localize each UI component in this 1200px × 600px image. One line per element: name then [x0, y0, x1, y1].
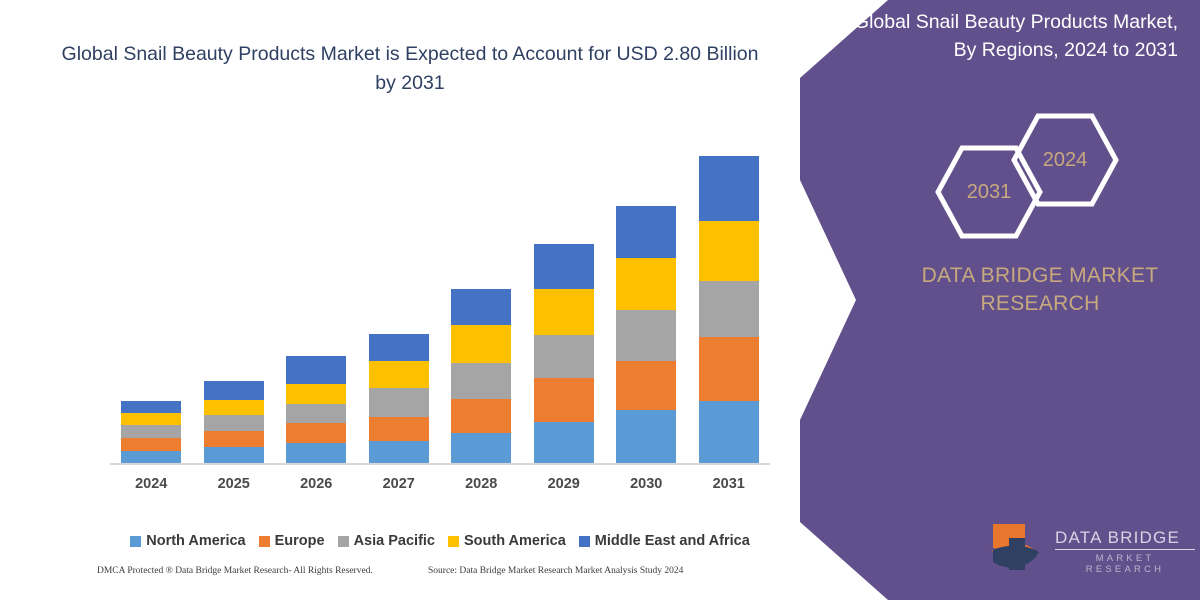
stacked-bar[interactable]: [204, 381, 264, 465]
legend-swatch-icon: [579, 536, 590, 547]
x-axis-label-2030: 2030: [606, 476, 686, 492]
brand-name-line-2: RESEARCH: [880, 290, 1200, 318]
bar-segment[interactable]: [286, 404, 346, 423]
bar-segment[interactable]: [121, 413, 181, 425]
bar-segment[interactable]: [286, 443, 346, 465]
page-title: Global Snail Beauty Products Market is E…: [60, 40, 760, 99]
legend-item[interactable]: South America: [448, 533, 566, 549]
bar-segment[interactable]: [534, 422, 594, 465]
hexagon-badge-start-year: 2031: [934, 144, 1044, 240]
legend-swatch-icon: [448, 536, 459, 547]
bar-segment[interactable]: [699, 337, 759, 401]
bar-segment[interactable]: [534, 289, 594, 335]
bar-segment[interactable]: [451, 433, 511, 465]
bar-segment[interactable]: [616, 361, 676, 410]
data-bridge-b-mark-icon: [985, 518, 1047, 576]
logo-line-2: MARKET RESEARCH: [1055, 553, 1195, 575]
hexagon-badges: 2024 2031: [930, 112, 1120, 232]
bar-segment[interactable]: [204, 381, 264, 400]
bar-segment[interactable]: [369, 334, 429, 361]
legend-label: South America: [464, 533, 566, 549]
brand-name-line-1: DATA BRIDGE MARKET: [880, 262, 1200, 290]
legend-label: Middle East and Africa: [595, 533, 750, 549]
bar-segment[interactable]: [369, 441, 429, 465]
footer-copyright: DMCA Protected ® Data Bridge Market Rese…: [97, 566, 373, 576]
bar-segment[interactable]: [699, 401, 759, 465]
bar-segment[interactable]: [616, 410, 676, 465]
bar-segment[interactable]: [534, 244, 594, 289]
bar-segment[interactable]: [616, 310, 676, 361]
bar-segment[interactable]: [699, 156, 759, 221]
chart-legend: North AmericaEuropeAsia PacificSouth Ame…: [110, 528, 770, 554]
logo-wordmark: DATA BRIDGE MARKET RESEARCH: [1055, 528, 1195, 575]
bar-segment[interactable]: [699, 281, 759, 337]
legend-swatch-icon: [259, 536, 270, 547]
footer-source: Source: Data Bridge Market Research Mark…: [428, 566, 683, 576]
legend-item[interactable]: Europe: [259, 533, 325, 549]
x-axis-label-2029: 2029: [524, 476, 604, 492]
bar-segment[interactable]: [286, 356, 346, 384]
bar-segment[interactable]: [204, 431, 264, 447]
stacked-bar[interactable]: [699, 156, 759, 465]
hexagon-start-year-label: 2031: [934, 144, 1044, 240]
company-logo: DATA BRIDGE MARKET RESEARCH: [985, 518, 1195, 580]
bar-segment[interactable]: [534, 378, 594, 422]
stacked-bar[interactable]: [616, 206, 676, 465]
x-axis-line: [110, 463, 770, 465]
x-axis-labels: 20242025202620272028202920302031: [110, 476, 770, 498]
stacked-bar[interactable]: [369, 334, 429, 465]
infographic-root: Global Snail Beauty Products Market is E…: [0, 0, 1200, 600]
bar-segment[interactable]: [451, 363, 511, 399]
legend-label: North America: [146, 533, 245, 549]
bar-segment[interactable]: [121, 401, 181, 413]
bar-segment[interactable]: [451, 399, 511, 433]
bar-segment[interactable]: [451, 289, 511, 325]
stacked-bar-chart: [110, 140, 770, 465]
x-axis-label-2031: 2031: [689, 476, 769, 492]
stacked-bar[interactable]: [286, 356, 346, 465]
bar-segment[interactable]: [121, 438, 181, 451]
x-axis-label-2028: 2028: [441, 476, 521, 492]
bar-segment[interactable]: [616, 258, 676, 310]
panel-title: Global Snail Beauty Products Market, By …: [828, 8, 1178, 65]
legend-item[interactable]: Middle East and Africa: [579, 533, 750, 549]
legend-label: Europe: [275, 533, 325, 549]
legend-item[interactable]: North America: [130, 533, 245, 549]
bar-segment[interactable]: [286, 423, 346, 443]
stacked-bar[interactable]: [534, 244, 594, 465]
bar-segment[interactable]: [204, 415, 264, 431]
x-axis-label-2025: 2025: [194, 476, 274, 492]
legend-swatch-icon: [338, 536, 349, 547]
legend-item[interactable]: Asia Pacific: [338, 533, 435, 549]
legend-swatch-icon: [130, 536, 141, 547]
stacked-bar[interactable]: [121, 401, 181, 465]
bar-segment[interactable]: [451, 325, 511, 363]
x-axis-label-2026: 2026: [276, 476, 356, 492]
footer: DMCA Protected ® Data Bridge Market Rese…: [0, 566, 800, 588]
stacked-bar[interactable]: [451, 289, 511, 465]
bar-segment[interactable]: [369, 417, 429, 441]
bar-segment[interactable]: [699, 221, 759, 281]
x-axis-label-2024: 2024: [111, 476, 191, 492]
x-axis-label-2027: 2027: [359, 476, 439, 492]
bar-segment[interactable]: [204, 400, 264, 415]
bar-segment[interactable]: [534, 335, 594, 378]
bar-segment[interactable]: [616, 206, 676, 258]
bar-segment[interactable]: [369, 361, 429, 388]
brand-name: DATA BRIDGE MARKET RESEARCH: [880, 262, 1200, 319]
bar-segment[interactable]: [286, 384, 346, 404]
legend-label: Asia Pacific: [354, 533, 435, 549]
logo-line-1: DATA BRIDGE: [1055, 528, 1195, 550]
bar-segment[interactable]: [369, 388, 429, 417]
bar-segment[interactable]: [121, 425, 181, 438]
